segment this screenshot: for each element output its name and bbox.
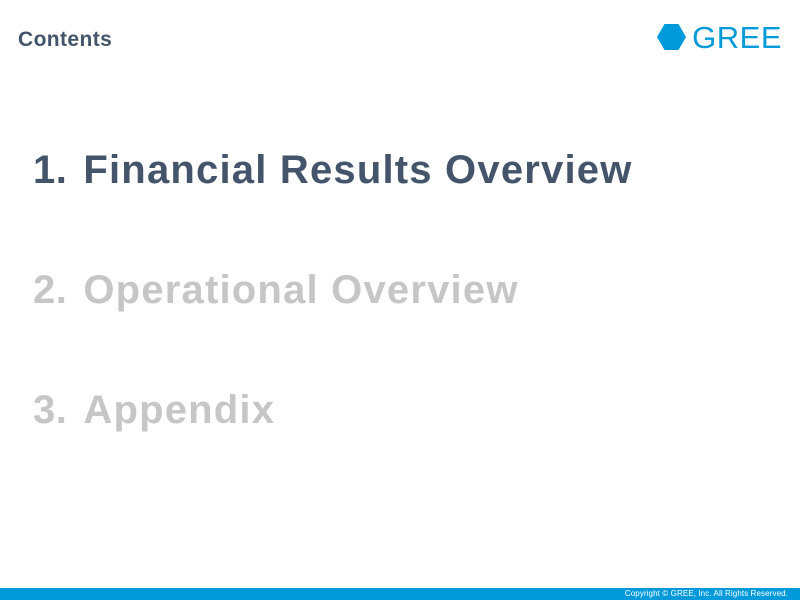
agenda-item-1-number: 1. xyxy=(33,150,67,190)
agenda-list: 1. Financial Results Overview 2. Operati… xyxy=(33,150,773,510)
copyright-text: Copyright © GREE, Inc. All Rights Reserv… xyxy=(625,590,800,598)
slide-header: Contents GREE xyxy=(0,0,800,70)
gree-hexagon-icon xyxy=(657,22,686,52)
slide-footer: Copyright © GREE, Inc. All Rights Reserv… xyxy=(0,588,800,600)
agenda-item-1-label: Financial Results Overview xyxy=(83,150,632,190)
slide-contents: Contents GREE 1. Financial Results Overv… xyxy=(0,0,800,600)
page-title: Contents xyxy=(18,29,112,50)
gree-logo: GREE xyxy=(657,20,782,54)
agenda-item-3[interactable]: 3. Appendix xyxy=(33,390,773,510)
agenda-item-3-number: 3. xyxy=(33,390,67,430)
agenda-item-2-label: Operational Overview xyxy=(83,270,518,310)
gree-wordmark: GREE xyxy=(692,22,782,53)
agenda-item-2-number: 2. xyxy=(33,270,67,310)
agenda-item-1[interactable]: 1. Financial Results Overview xyxy=(33,150,773,270)
agenda-item-3-label: Appendix xyxy=(83,390,275,430)
agenda-item-2[interactable]: 2. Operational Overview xyxy=(33,270,773,390)
